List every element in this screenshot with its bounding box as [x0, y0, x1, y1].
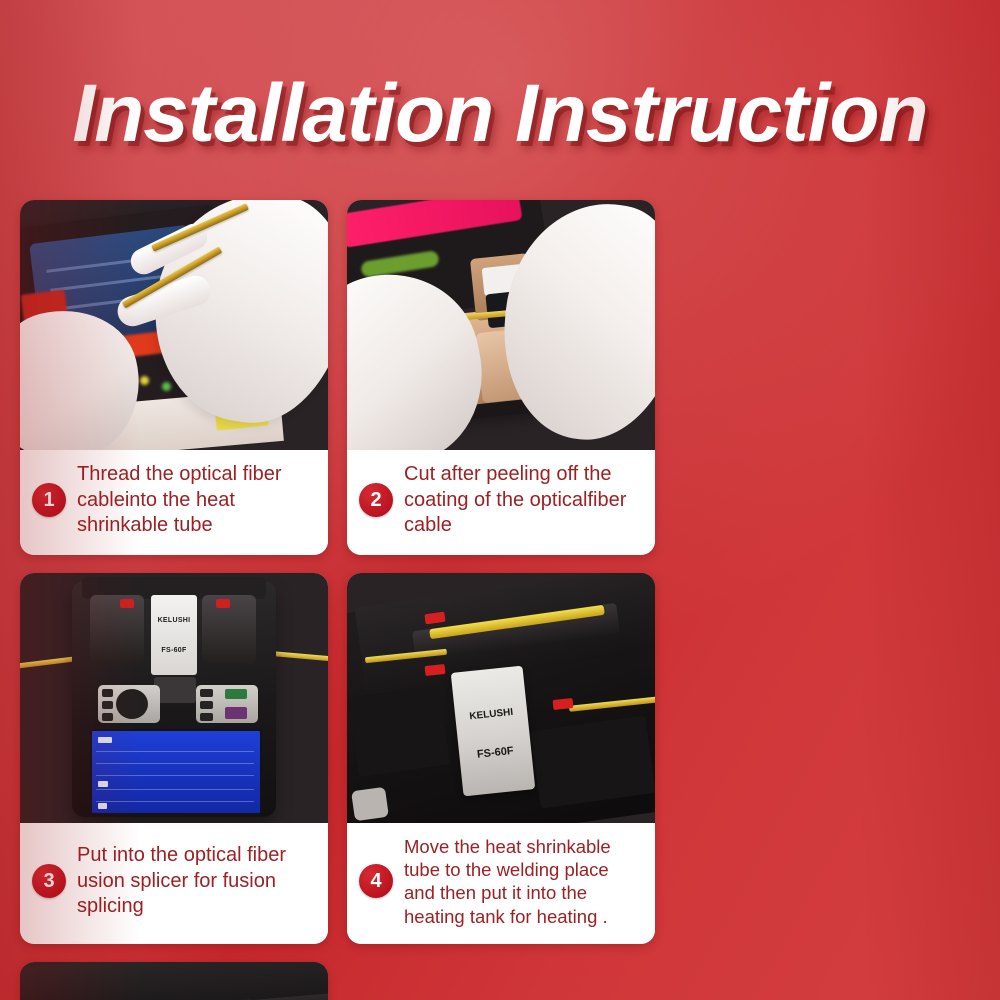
step-caption-4: 4 Move the heat shrinkable tube to the w…: [347, 823, 655, 944]
step-photo-2: [347, 200, 655, 450]
step-card-5[interactable]: 5 Finished: [20, 962, 328, 1000]
step-badge-1: 1: [32, 483, 66, 517]
step-text-3: Put into the optical fiber usion splicer…: [77, 843, 314, 920]
splicer-brand-label-4: KELUSHI: [455, 705, 528, 723]
step-text-4: Move the heat shrinkable tube to the wel…: [404, 835, 641, 928]
step-badge-3: 3: [32, 864, 66, 898]
step-photo-5: [20, 962, 328, 1000]
step-caption-2: 2 Cut after peeling off the coating of t…: [347, 450, 655, 555]
step-text-1: Thread the optical fiber cableinto the h…: [77, 462, 314, 539]
step-photo-3: KELUSHI FS-60F: [20, 573, 328, 823]
step-caption-1: 1 Thread the optical fiber cableinto the…: [20, 450, 328, 555]
step-photo-4: KELUSHI FS-60F: [347, 573, 655, 823]
instruction-poster: Installation Instruction: [0, 0, 1000, 1000]
step-text-2: Cut after peeling off the coating of the…: [404, 462, 641, 539]
steps-grid: 1 Thread the optical fiber cableinto the…: [20, 200, 980, 1000]
splicer-model-label-4: FS-60F: [459, 743, 532, 762]
page-title: Installation Instruction: [72, 73, 927, 155]
step-badge-2: 2: [359, 483, 393, 517]
step-card-4[interactable]: KELUSHI FS-60F 4 Move the heat shrinkabl…: [347, 573, 655, 944]
splicer-brand-label-3: KELUSHI: [151, 617, 197, 624]
splicer-model-label-3: FS-60F: [151, 647, 197, 654]
step-card-3[interactable]: KELUSHI FS-60F: [20, 573, 328, 944]
step-card-2[interactable]: 2 Cut after peeling off the coating of t…: [347, 200, 655, 555]
step-badge-4: 4: [359, 864, 393, 898]
step-caption-3: 3 Put into the optical fiber usion splic…: [20, 823, 328, 944]
step-card-1[interactable]: 1 Thread the optical fiber cableinto the…: [20, 200, 328, 555]
page-title-container: Installation Instruction: [0, 58, 1000, 170]
step-photo-1: [20, 200, 328, 450]
